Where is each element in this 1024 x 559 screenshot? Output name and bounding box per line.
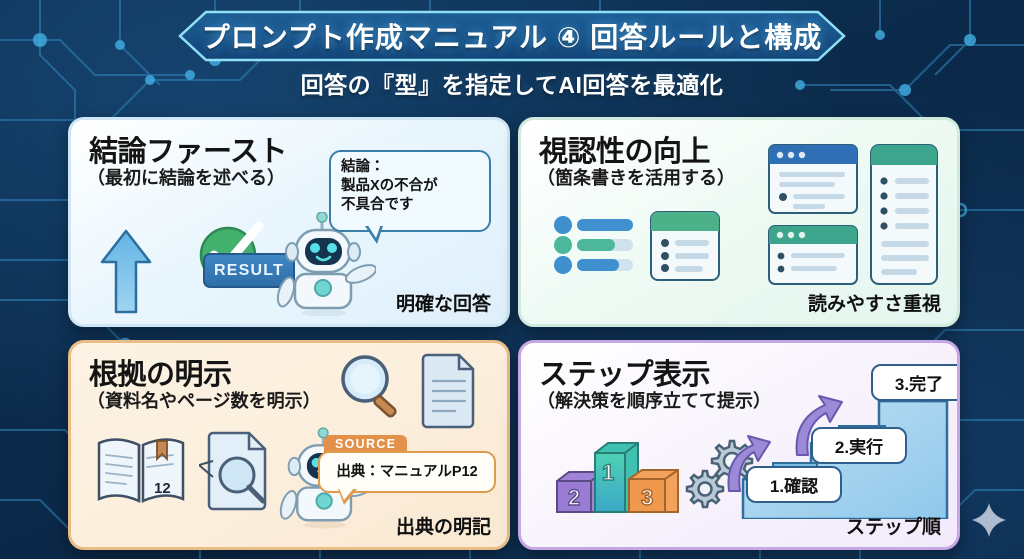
card2-footer: 読みやすさ重視 <box>808 289 941 316</box>
browser-window-icon <box>767 143 859 215</box>
card-conclusion-first[interactable]: 結論ファースト （最初に結論を述べる） RESULT <box>68 117 510 327</box>
infographic-canvas: プロンプト作成マニュアル ④ 回答ルールと構成 回答の『型』を指定してAI回答を… <box>0 0 1024 559</box>
podium-rank-2: 2 <box>568 485 580 510</box>
open-book-icon: 12 <box>93 431 189 509</box>
card3-subtitle: （資料名やページ数を明示） <box>87 387 321 413</box>
document-icon <box>415 349 487 431</box>
browser-window-icon <box>767 224 859 286</box>
card1-bubble-text: 結論： 製品Xの不合が 不具合です <box>341 158 438 215</box>
card1-subtitle: （最初に結論を述べる） <box>87 164 285 190</box>
document-search-icon <box>199 429 281 513</box>
bullet-list-icon <box>553 215 638 275</box>
podium-rank-3: 3 <box>641 485 653 510</box>
card-steps[interactable]: ステップ表示 （解決策を順序立てて提示） 2 1 3 <box>518 340 960 550</box>
step-label-2: 2.実行 <box>811 427 907 464</box>
card3-bubble-text: 出典：マニュアルP12 <box>320 460 494 481</box>
podium-rank-1: 1 <box>602 460 614 485</box>
card1-speech-bubble: 結論： 製品Xの不合が 不具合です <box>329 150 491 232</box>
magnifier-icon <box>335 351 407 423</box>
card4-footer: ステップ順 <box>846 512 941 539</box>
up-arrow-icon <box>99 228 153 316</box>
card3-footer: 出典の明記 <box>396 512 491 539</box>
sparkle-icon <box>972 503 1006 537</box>
document-card-icon <box>649 210 721 282</box>
bubble-tail-fill <box>367 224 381 238</box>
bubble-tail-fill <box>339 488 354 500</box>
title-banner: プロンプト作成マニュアル ④ 回答ルールと構成 <box>178 10 846 62</box>
page-number-label: 12 <box>154 480 171 497</box>
page-title: プロンプト作成マニュアル ④ 回答ルールと構成 <box>178 10 846 62</box>
card2-subtitle: （箇条書きを活用する） <box>537 164 735 190</box>
card-visibility[interactable]: 視認性の向上 （箇条書きを活用する） <box>518 117 960 327</box>
step-label-3: 3.完了 <box>871 364 960 401</box>
mobile-list-icon <box>869 143 939 286</box>
card-evidence[interactable]: 根拠の明示 （資料名やページ数を明示） <box>68 340 510 550</box>
step-label-1: 1.確認 <box>746 466 842 503</box>
card1-footer: 明確な回答 <box>396 289 491 316</box>
podium-icon: 2 1 3 <box>551 435 685 521</box>
card3-speech-bubble: 出典：マニュアルP12 <box>318 451 496 493</box>
page-subtitle: 回答の『型』を指定してAI回答を最適化 <box>0 66 1024 100</box>
